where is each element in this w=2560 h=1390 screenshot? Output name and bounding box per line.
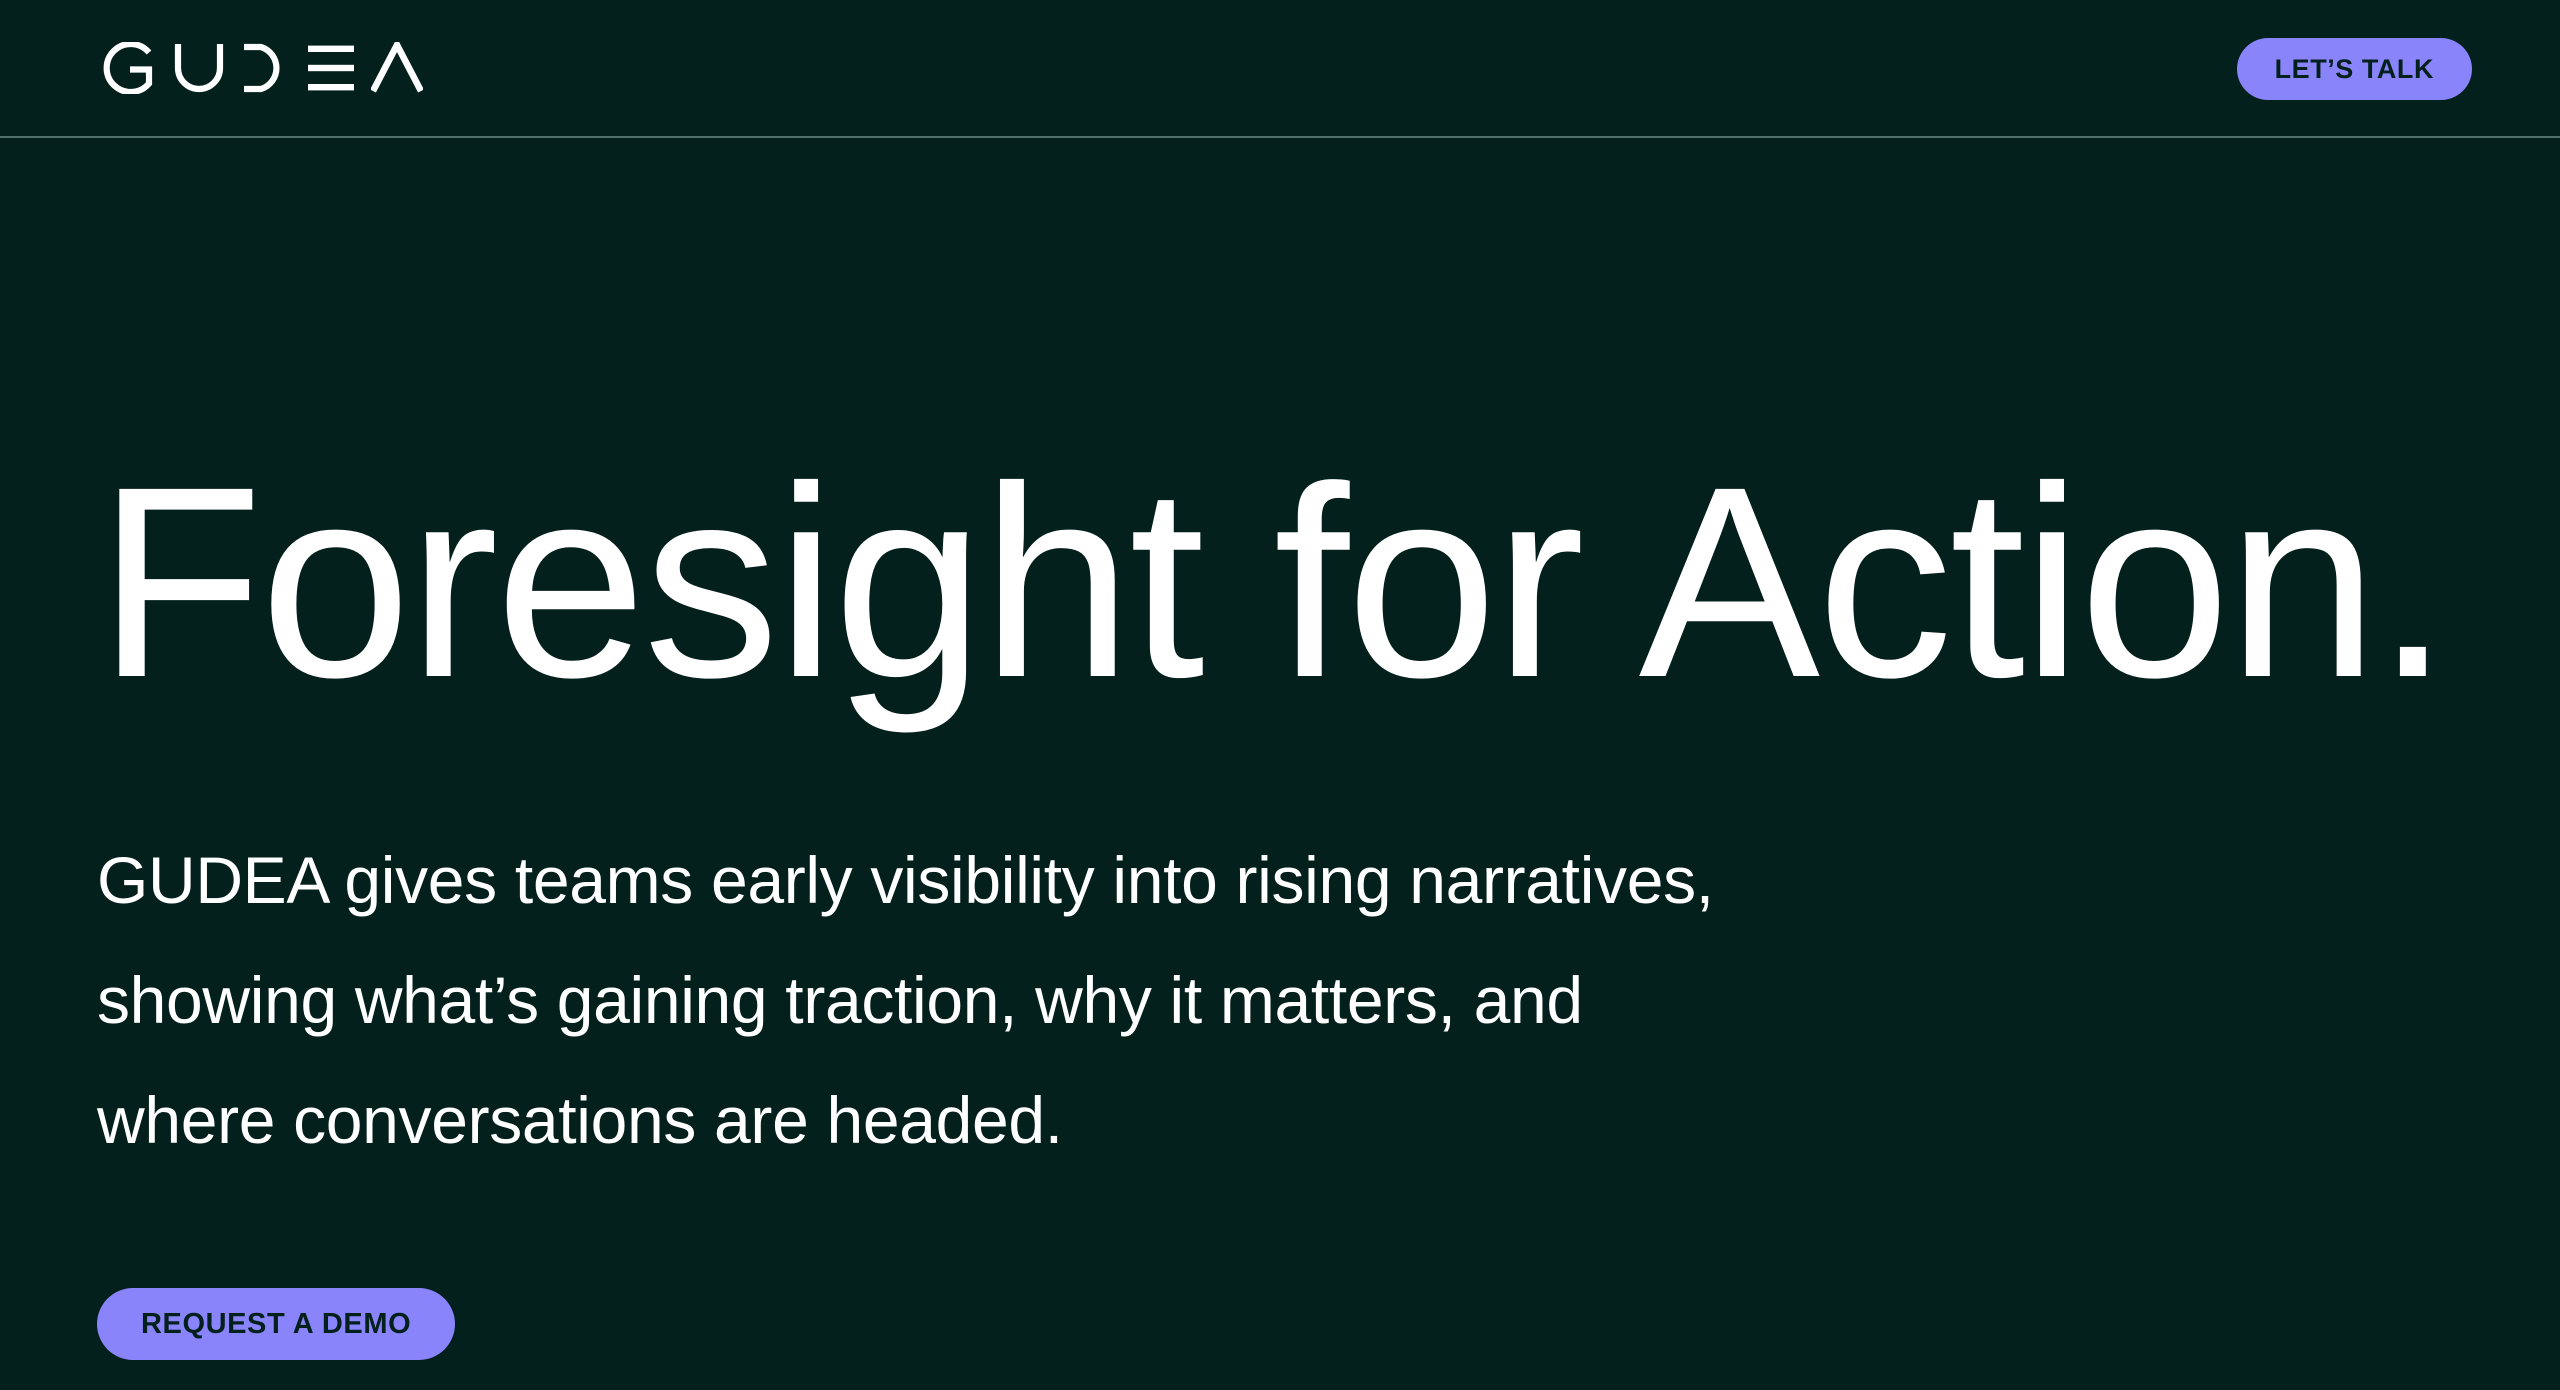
logo-letter-e-icon: [308, 42, 354, 94]
request-demo-button[interactable]: REQUEST A DEMO: [97, 1288, 455, 1360]
hero-headline: Foresight for Action.: [97, 453, 2447, 711]
lets-talk-button[interactable]: LET’S TALK: [2237, 38, 2472, 100]
page-fold-spacer: [0, 1386, 2560, 1390]
logo-letter-a-icon: [371, 42, 423, 94]
site-header: GUDEA LET’S TALK: [0, 0, 2560, 138]
logo-letter-g-icon: [97, 42, 157, 94]
hero-subtitle-line: where conversations are headed.: [97, 1060, 2497, 1180]
hero-section: Foresight for Action. GUDEA gives teams …: [0, 138, 2560, 1390]
logo-letter-u-icon: [174, 42, 224, 94]
landing-page: GUDEA LET’S TALK Foresight for Action. G…: [0, 0, 2560, 1390]
gudea-logo[interactable]: GUDEA: [97, 42, 423, 94]
logo-letter-d-icon: [241, 42, 291, 94]
hero-subtitle-line: showing what’s gaining traction, why it …: [97, 940, 2497, 1060]
hero-subtitle: GUDEA gives teams early visibility into …: [97, 820, 2497, 1180]
hero-subtitle-line: GUDEA gives teams early visibility into …: [97, 820, 2497, 940]
